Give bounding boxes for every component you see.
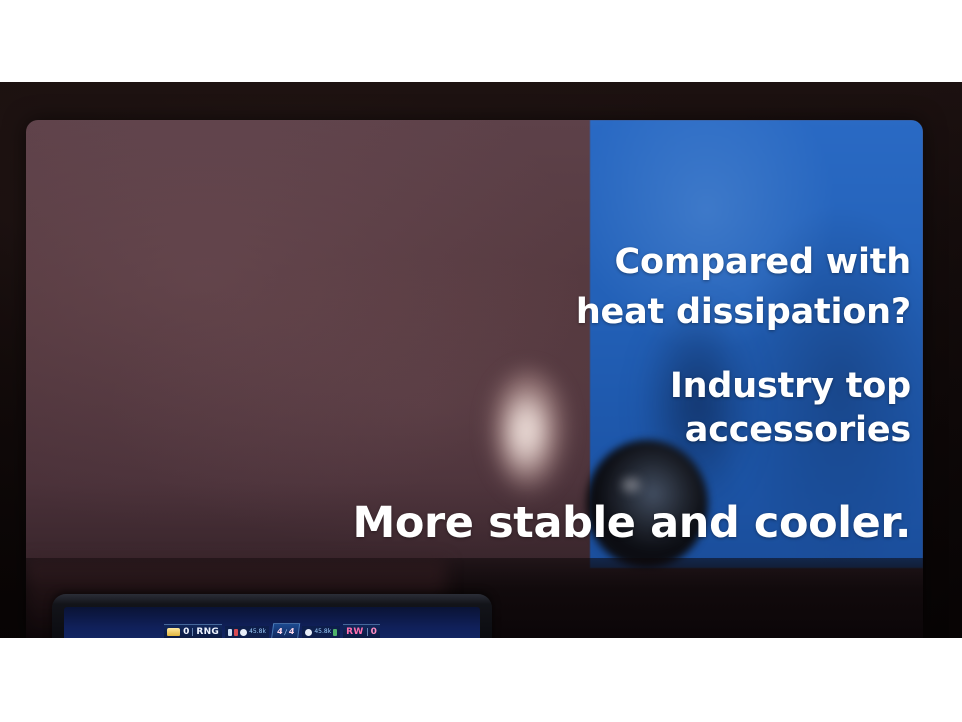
laptop-screen: 0 RNG 45.8k 4 / — [64, 607, 480, 638]
center-timer-left: 4 — [276, 628, 283, 636]
right-team-score: 0 — [371, 628, 377, 637]
left-team-name: RNG — [196, 628, 219, 637]
bottom-white-margin — [0, 638, 962, 722]
left-team-scoreboard: 0 RNG — [164, 624, 222, 638]
left-team-score: 0 — [183, 628, 189, 637]
gold-bar-icon — [167, 628, 180, 636]
score-divider — [192, 628, 193, 636]
inhibitor-icon — [234, 629, 238, 636]
laptop-bezel-sheen — [52, 594, 492, 604]
center-timer-right: 4 — [288, 628, 295, 636]
right-team-name: RW — [346, 628, 363, 637]
lamp-highlight-core — [496, 392, 554, 512]
promo-banner-image: 0 RNG 45.8k 4 / — [0, 82, 962, 638]
score-divider-right — [367, 628, 368, 636]
dark-object-specular — [622, 478, 640, 492]
right-team-scoreboard: RW 0 — [343, 624, 380, 638]
screenshot-viewport: 0 RNG 45.8k 4 / — [0, 0, 962, 722]
top-white-margin — [0, 0, 962, 82]
left-team-gold: 45.8k — [249, 629, 266, 635]
center-objective-timer: 4 / 4 — [271, 623, 301, 638]
right-team-stats: 45.8k — [302, 626, 340, 639]
tower-icon-right — [333, 629, 337, 636]
center-timer-separator: / — [284, 628, 287, 637]
gaming-laptop: 0 RNG 45.8k 4 / — [52, 594, 492, 638]
tower-icon — [228, 629, 232, 636]
banner-photo-card: 0 RNG 45.8k 4 / — [26, 120, 923, 638]
kill-icon — [240, 629, 247, 636]
game-scoreboard-hud: 0 RNG 45.8k 4 / — [64, 623, 480, 638]
left-team-stats: 45.8k — [225, 626, 269, 639]
dark-round-object — [586, 440, 708, 568]
kill-icon-right — [305, 629, 312, 636]
right-team-gold: 45.8k — [314, 629, 331, 635]
